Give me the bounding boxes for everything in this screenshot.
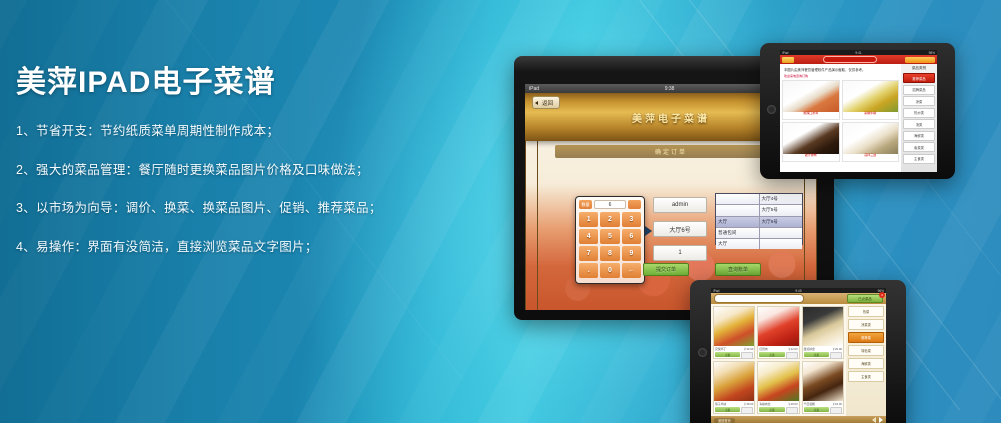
next-page-icon[interactable]	[879, 417, 883, 423]
table-name-cell	[760, 228, 803, 238]
keypad-key[interactable]: 8	[600, 246, 619, 261]
table-name-cell: 大厅4号	[760, 194, 803, 204]
keypad-tag-label: 数量	[579, 200, 592, 209]
dish-actions: 点菜	[715, 407, 753, 414]
table-area-cell: 普通包间	[716, 228, 760, 238]
dish-name-row: 宫保鸡丁 ￥32.00	[715, 347, 753, 351]
cart-button[interactable]: 已点菜品 3	[847, 294, 883, 303]
dish-card[interactable]: 甜点拼盘 ￥26.00 点菜	[802, 306, 844, 359]
dish-image	[803, 307, 843, 346]
keypad-key[interactable]: 1	[579, 212, 598, 227]
table-field[interactable]: 大厅6号	[653, 221, 707, 237]
quantity-stepper[interactable]	[830, 352, 842, 359]
sidebar-item-5[interactable]: 主食类	[848, 371, 884, 382]
dish-name-row: 红烧肉 ￥42.00	[759, 347, 797, 351]
query-bill-button[interactable]: 查询账单	[715, 263, 761, 276]
dish-image	[714, 307, 754, 346]
br-content: 宫保鸡丁 ￥32.00 点菜	[711, 304, 886, 416]
user-field[interactable]: admin	[653, 197, 707, 213]
bottom-right-tablet-device: iPad 9:45 96% 已点菜品 3 宫保鸡丁	[690, 280, 906, 423]
brand-logo-icon	[782, 57, 794, 63]
dish-name: 宫保鸡丁	[715, 347, 726, 351]
table-row[interactable]: 大厅5号	[716, 205, 802, 216]
sidebar-item-0[interactable]: 推荐菜品	[903, 73, 935, 83]
tr-header-bar	[780, 55, 937, 64]
bottom-right-tablet-screen: iPad 9:45 96% 已点菜品 3 宫保鸡丁	[711, 288, 886, 423]
keypad-key[interactable]: 3	[622, 212, 641, 227]
dish-name: 青椒肉丝	[759, 402, 770, 406]
add-dish-button[interactable]: 点菜	[715, 407, 740, 412]
dish-name: 豉汁排骨	[783, 154, 839, 162]
quantity-stepper[interactable]	[741, 407, 753, 414]
dish-price: ￥18.00	[832, 402, 842, 406]
sidebar-item-2[interactable]: 推荐菜	[848, 332, 884, 343]
dish-name: 红烧肉	[759, 347, 767, 351]
feature-bullet-1: 1、节省开支：节约纸质菜单周期性制作成本；	[16, 125, 446, 138]
table-area-cell: 大厅	[716, 239, 760, 249]
dish-card[interactable]: 香辣口水鸡	[782, 80, 840, 120]
dish-name-row: 甜点拼盘 ￥26.00	[804, 347, 842, 351]
dish-meta: 辣子鸡块 ￥38.00 点菜	[714, 401, 754, 413]
dish-image	[783, 123, 839, 154]
sidebar-item-4[interactable]: 海鲜类	[848, 358, 884, 369]
top-right-tablet-screen: iPad 9:41 98% 本图片由美萍餐饮管理软件产品演示截取，仅供参考。 欢…	[780, 50, 937, 172]
dish-name-row: 青椒肉丝 ￥28.00	[759, 402, 797, 406]
numeric-keypad[interactable]: 数量 6 1 2 3 4 5 6 7 8 9 .	[575, 196, 645, 284]
tr-header-pill	[823, 56, 877, 63]
table-row[interactable]: 大厅	[716, 239, 802, 249]
status-carrier: iPad	[713, 289, 719, 293]
dish-image	[843, 81, 899, 112]
table-list[interactable]: 大厅4号 大厅5号 大厅 大厅6号 普通包间 大厅	[715, 193, 803, 245]
confirm-order-bar[interactable]: 确定订单	[555, 145, 787, 158]
quantity-stepper[interactable]	[830, 407, 842, 414]
keypad-key[interactable]: .	[579, 263, 598, 278]
keypad-key[interactable]: 2	[600, 212, 619, 227]
dish-name: 辣子鸡块	[715, 402, 726, 406]
keypad-key[interactable]: 0	[600, 263, 619, 278]
keypad-display-row: 数量 6	[579, 200, 641, 209]
keypad-grid: 1 2 3 4 5 6 7 8 9 . 0 ←	[579, 212, 641, 278]
dish-actions: 点菜	[759, 407, 797, 414]
dish-price: ￥42.00	[788, 347, 798, 351]
tr-category-sidebar: 菜品类别 推荐菜品 招牌菜品 凉菜 热炒类 汤类 海鲜类 素菜类 主食类	[901, 64, 937, 172]
promo-copy: 美萍IPAD电子菜谱 1、节省开支：节约纸质菜单周期性制作成本； 2、强大的菜品…	[16, 66, 446, 279]
dish-image	[803, 362, 843, 401]
dish-card[interactable]: 青椒肉丝 ￥28.00 点菜	[757, 361, 799, 414]
sidebar-item-1[interactable]: 凉菜类	[848, 319, 884, 330]
search-input[interactable]	[714, 294, 804, 303]
tr-notice: 本图片由美萍餐饮管理软件产品演示截取，仅供参考。	[784, 67, 899, 72]
dish-image	[783, 81, 839, 112]
sidebar-item-2[interactable]: 凉菜	[903, 96, 935, 106]
add-dish-button[interactable]: 点菜	[804, 352, 829, 357]
dish-card[interactable]: 彩椒牛柳	[842, 80, 900, 120]
pagination-controls	[872, 417, 883, 423]
dish-name: 凉拌三丝	[843, 154, 899, 162]
dish-price: ￥28.00	[788, 402, 798, 406]
keypad-key[interactable]: 5	[600, 229, 619, 244]
status-time: 9:45	[795, 289, 801, 293]
order-fields: admin 大厅6号 1	[653, 197, 707, 269]
dish-meta: 红烧肉 ￥42.00 点菜	[758, 346, 798, 358]
sidebar-title: 菜品类别	[903, 66, 935, 71]
sidebar-item-6[interactable]: 素菜类	[903, 142, 935, 152]
table-name-cell: 大厅5号	[760, 205, 803, 215]
table-name-cell	[760, 239, 803, 249]
add-dish-button[interactable]: 点菜	[804, 407, 829, 412]
dish-meta: 甜点拼盘 ￥26.00 点菜	[803, 346, 843, 358]
dish-image	[714, 362, 754, 401]
view-ordered-dishes-button[interactable]	[905, 57, 935, 63]
status-carrier: iPad	[782, 51, 788, 55]
dish-price: ￥32.00	[744, 347, 754, 351]
feature-bullet-2: 2、强大的菜品管理：餐厅随时更换菜品图片价格及口味做法；	[16, 164, 446, 177]
keypad-key[interactable]: 9	[622, 246, 641, 261]
ornament-border-left	[525, 141, 538, 310]
br-category-sidebar: 热菜 凉菜类 推荐菜 特色菜 海鲜类 主食类	[846, 304, 886, 416]
dish-name: 甜点拼盘	[804, 347, 815, 351]
keypad-display[interactable]: 6	[594, 200, 626, 209]
sidebar-item-4[interactable]: 汤类	[903, 119, 935, 129]
dish-image	[843, 123, 899, 154]
dish-name: 香辣口水鸡	[783, 112, 839, 120]
dish-actions: 点菜	[804, 352, 842, 359]
table-row[interactable]: 大厅 大厅6号	[716, 217, 802, 228]
table-area-cell: 大厅	[716, 217, 760, 227]
dish-card[interactable]: 豉汁排骨	[782, 122, 840, 162]
tr-dish-grid: 本图片由美萍餐饮管理软件产品演示截取，仅供参考。 欢迎来电咨询订购 香辣口水鸡 …	[780, 64, 901, 172]
dish-image	[758, 362, 798, 401]
dish-actions: 点菜	[759, 352, 797, 359]
dish-card[interactable]: 凉拌三丝	[842, 122, 900, 162]
keypad-key[interactable]: ←	[622, 263, 641, 278]
prev-page-icon[interactable]	[872, 417, 876, 423]
table-row[interactable]: 大厅4号	[716, 194, 802, 205]
table-area-cell	[716, 205, 760, 215]
dish-name-row: 千层蛋糕 ￥18.00	[804, 402, 842, 406]
tr-content: 本图片由美萍餐饮管理软件产品演示截取，仅供参考。 欢迎来电咨询订购 香辣口水鸡 …	[780, 64, 937, 172]
home-link[interactable]: 返回首页	[714, 418, 735, 423]
home-button-icon[interactable]	[767, 105, 776, 114]
add-dish-button[interactable]: 点菜	[759, 352, 784, 357]
cart-badge: 3	[879, 292, 885, 298]
feature-bullet-3: 3、以市场为向导：调价、换菜、换菜品图片、促销、推荐菜品；	[16, 202, 446, 215]
br-footer-bar: 返回首页	[711, 416, 886, 423]
status-time: 9:38	[665, 86, 675, 92]
dish-card[interactable]: 千层蛋糕 ￥18.00 点菜	[802, 361, 844, 414]
sidebar-item-7[interactable]: 主食类	[903, 154, 935, 164]
top-right-tablet-device: iPad 9:41 98% 本图片由美萍餐饮管理软件产品演示截取，仅供参考。 欢…	[760, 43, 955, 179]
table-row[interactable]: 普通包间	[716, 228, 802, 239]
promo-banner: 美萍IPAD电子菜谱 1、节省开支：节约纸质菜单周期性制作成本； 2、强大的菜品…	[0, 0, 1001, 423]
dish-name: 千层蛋糕	[804, 402, 815, 406]
dish-meta: 宫保鸡丁 ￥32.00 点菜	[714, 346, 754, 358]
sidebar-item-3[interactable]: 特色菜	[848, 345, 884, 356]
table-area-cell	[716, 194, 760, 204]
br-dish-grid: 宫保鸡丁 ￥32.00 点菜	[711, 304, 846, 416]
quantity-stepper[interactable]	[786, 407, 798, 414]
sidebar-item-5[interactable]: 海鲜类	[903, 131, 935, 141]
cart-label: 已点菜品	[858, 296, 872, 301]
table-name-cell: 大厅6号	[760, 217, 803, 227]
dish-meta: 千层蛋糕 ￥18.00 点菜	[803, 401, 843, 413]
sidebar-item-1[interactable]: 招牌菜品	[903, 85, 935, 95]
backspace-icon[interactable]	[628, 200, 641, 209]
tr-notice-sub: 欢迎来电咨询订购	[784, 74, 899, 78]
sidebar-item-3[interactable]: 热炒类	[903, 108, 935, 118]
feature-bullet-4: 4、易操作：界面有没简洁，直接浏览菜品文字图片；	[16, 241, 446, 254]
tr-dish-cells: 香辣口水鸡 彩椒牛柳 豉汁排骨 凉拌三丝	[782, 80, 899, 162]
keypad-key[interactable]: 7	[579, 246, 598, 261]
dish-actions: 点菜	[804, 407, 842, 414]
dish-meta: 青椒肉丝 ￥28.00 点菜	[758, 401, 798, 413]
add-dish-button[interactable]: 点菜	[715, 352, 740, 357]
keypad-key[interactable]: 4	[579, 229, 598, 244]
quantity-stepper[interactable]	[786, 352, 798, 359]
dish-card[interactable]: 宫保鸡丁 ￥32.00 点菜	[713, 306, 755, 359]
dish-card[interactable]: 红烧肉 ￥42.00 点菜	[757, 306, 799, 359]
sidebar-item-0[interactable]: 热菜	[848, 306, 884, 317]
back-button[interactable]: 返回	[532, 96, 560, 109]
order-action-buttons: 提交订单 查询账单	[643, 263, 803, 276]
dish-name-row: 辣子鸡块 ￥38.00	[715, 402, 753, 406]
status-battery: 98%	[929, 51, 935, 55]
submit-order-button[interactable]: 提交订单	[643, 263, 689, 276]
count-field[interactable]: 1	[653, 245, 707, 261]
quantity-stepper[interactable]	[741, 352, 753, 359]
status-carrier: iPad	[529, 86, 539, 92]
keypad-key[interactable]: 6	[622, 229, 641, 244]
home-button-icon[interactable]	[698, 348, 707, 357]
page-title: 美萍IPAD电子菜谱	[16, 66, 446, 99]
dish-actions: 点菜	[715, 352, 753, 359]
dish-image	[758, 307, 798, 346]
br-header-bar: 已点菜品 3	[711, 293, 886, 304]
dish-card[interactable]: 辣子鸡块 ￥38.00 点菜	[713, 361, 755, 414]
dish-price: ￥38.00	[744, 402, 754, 406]
add-dish-button[interactable]: 点菜	[759, 407, 784, 412]
dish-name: 彩椒牛柳	[843, 112, 899, 120]
dish-price: ￥26.00	[832, 347, 842, 351]
status-time: 9:41	[855, 51, 861, 55]
pointer-arrow-icon	[645, 226, 652, 236]
